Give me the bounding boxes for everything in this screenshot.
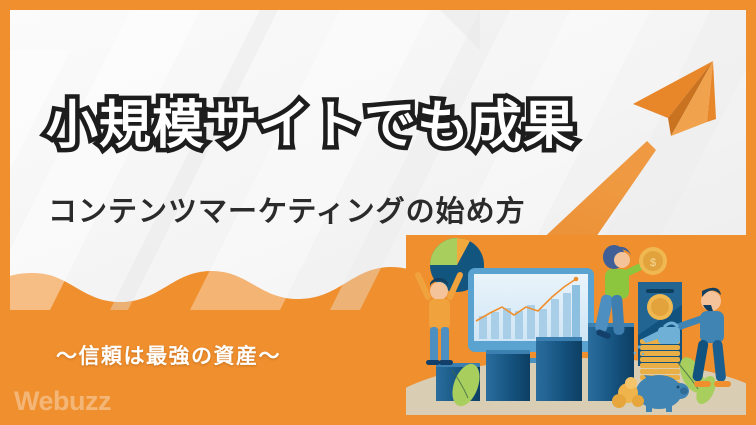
svg-text:$: $ <box>650 257 656 269</box>
page-subtitle: コンテンツマーケティングの始め方 <box>48 188 526 230</box>
tagline: 〜信頼は最強の資産〜 <box>56 340 281 370</box>
brand-logo: Webuzz <box>14 386 111 417</box>
page-title: 小規模サイトでも成果 <box>46 98 576 154</box>
business-growth-illustration: $ <box>406 235 746 415</box>
banner-root: 小規模サイトでも成果 コンテンツマーケティングの始め方 〜信頼は最強の資産〜 W… <box>0 0 756 425</box>
